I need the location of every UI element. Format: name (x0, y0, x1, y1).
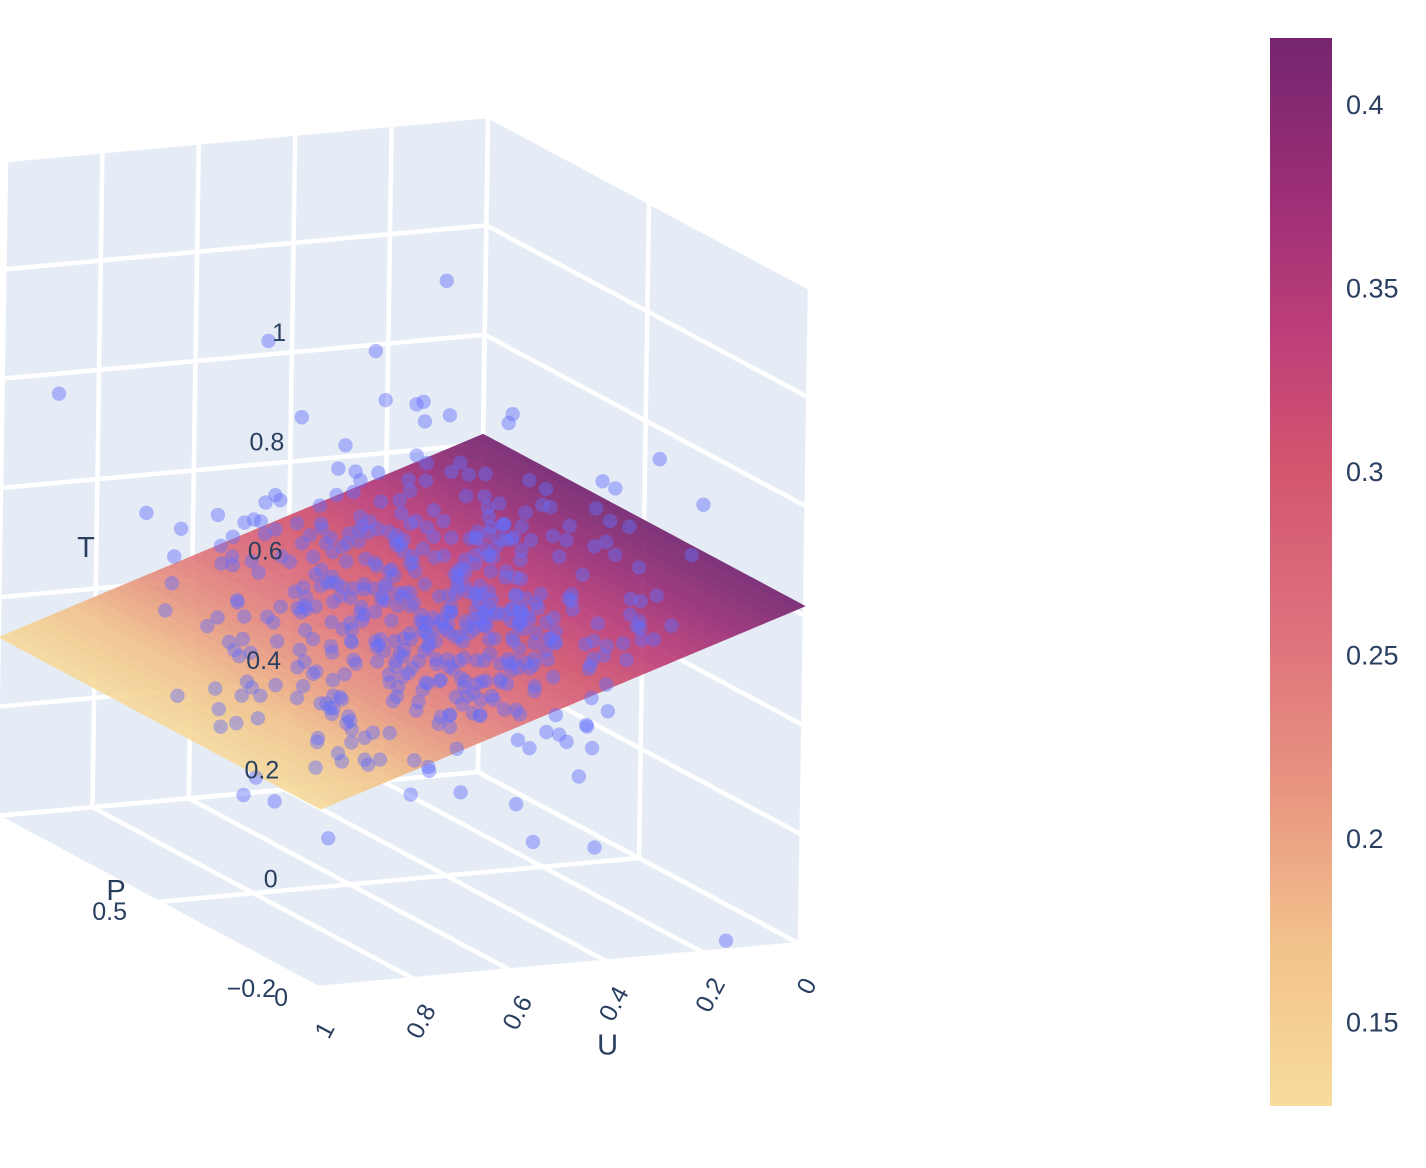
scatter-point-outlier (267, 794, 281, 808)
scatter-point (462, 467, 476, 481)
scatter-point (293, 643, 307, 657)
scatter-point (333, 690, 347, 704)
scatter-point (326, 595, 340, 609)
scatter-point (308, 760, 322, 774)
scatter-point (575, 568, 589, 582)
scatter-point (436, 514, 450, 528)
scatter-point (608, 481, 622, 495)
scatter-point (344, 735, 358, 749)
scatter-point (487, 631, 501, 645)
scatter-point (479, 674, 493, 688)
z-tick-label-4: 0.2 (245, 756, 280, 784)
scatter-point (236, 632, 250, 646)
scatter-point (468, 589, 482, 603)
scatter-point (434, 673, 448, 687)
scatter-point (251, 565, 265, 579)
scatter-point (417, 577, 431, 591)
scatter-point (174, 522, 188, 536)
scatter-point (339, 554, 353, 568)
scatter-point (587, 634, 601, 648)
scatter-point (589, 501, 603, 515)
scatter-point (505, 407, 519, 421)
scatter-point (165, 576, 179, 590)
scatter-point (323, 701, 337, 715)
scatter-point (591, 616, 605, 630)
z-tick-label-3: 0.4 (246, 647, 281, 675)
scatter-point (647, 632, 661, 646)
scatter-point (653, 452, 667, 466)
scatter-point (495, 518, 509, 532)
scatter-point (335, 754, 349, 768)
scatter-point (420, 520, 434, 534)
y-tick-label-2: 0 (274, 984, 288, 1012)
scatter-point (167, 549, 181, 563)
scatter-point (499, 533, 513, 547)
scatter-point (407, 595, 421, 609)
x-axis-title: U (597, 1030, 618, 1062)
z-tick-label-1: 0.8 (250, 428, 285, 456)
scatter-point (306, 632, 320, 646)
x-tick-label-4: 0.2 (690, 973, 731, 1017)
plot-figure: 10.80.60.40.20−0.210.5010.80.60.40.20 TP… (0, 0, 1426, 1168)
scatter-point (231, 595, 245, 609)
scatter-point (585, 741, 599, 755)
scatter-point (225, 549, 239, 563)
scatter-point (603, 514, 617, 528)
scatter-point-outlier (719, 933, 733, 947)
colorbar-tick-label-3: 0.25 (1346, 641, 1399, 671)
scatter-point (407, 753, 421, 767)
x-tick-label-1: 0.8 (401, 1000, 442, 1044)
scatter-point (526, 835, 540, 849)
scatter-point (310, 735, 324, 749)
z-tick-label-6: −0.2 (227, 975, 276, 1003)
scatter-point (273, 599, 287, 613)
scatter-point (222, 635, 236, 649)
scatter-point (684, 548, 698, 562)
scatter-point (361, 758, 375, 772)
scatter-point (453, 785, 467, 799)
scatter-point (158, 603, 172, 617)
scatter-point (506, 634, 520, 648)
z-tick-label-0: 1 (272, 319, 286, 347)
scatter-point (516, 622, 530, 636)
scatter-point (384, 614, 398, 628)
scatter-point (437, 548, 451, 562)
scatter3d-plot[interactable]: 10.80.60.40.20−0.210.5010.80.60.40.20 TP… (0, 0, 1426, 1168)
scatter-point (319, 536, 333, 550)
scatter-point (497, 702, 511, 716)
scatter-point (466, 706, 480, 720)
scatter-point (632, 560, 646, 574)
scatter-point (419, 456, 433, 470)
scatter-point (232, 649, 246, 663)
scatter-point (564, 594, 578, 608)
scatter-point (306, 550, 320, 564)
scatter-point (421, 760, 435, 774)
scatter-point-outlier (52, 386, 66, 400)
scatter-point (299, 602, 313, 616)
scatter-point (443, 720, 457, 734)
scatter-point (339, 716, 353, 730)
x-tick-label-0: 1 (309, 1018, 340, 1043)
scatter-point (411, 654, 425, 668)
scatter-point (313, 498, 327, 512)
scatter-point (529, 625, 543, 639)
z-tick-label-5: 0 (264, 866, 278, 894)
scatter-point (409, 397, 423, 411)
scatter-point (374, 494, 388, 508)
scatter-point (370, 559, 384, 573)
scatter-point (290, 660, 304, 674)
colorbar[interactable]: 0.40.350.30.250.20.15 (1270, 38, 1399, 1106)
scatter-point (597, 648, 611, 662)
scatter-point (518, 505, 532, 519)
scatter-point (371, 466, 385, 480)
scatter-point (491, 605, 505, 619)
scatter-point (418, 675, 432, 689)
scatter-point (344, 634, 358, 648)
scatter-point (290, 516, 304, 530)
scatter-point (595, 474, 609, 488)
scatter-point (476, 541, 490, 555)
scatter-point (403, 787, 417, 801)
scatter-point (458, 614, 472, 628)
scatter-point (213, 719, 227, 733)
scatter-point (622, 520, 636, 534)
scatter-point (337, 667, 351, 681)
scatter-point (348, 464, 362, 478)
scatter-point (634, 594, 648, 608)
scatter-point (369, 344, 383, 358)
scatter-point (416, 542, 430, 556)
scatter-point (361, 525, 375, 539)
scatter-point (258, 495, 272, 509)
scatter-point (200, 619, 214, 633)
scatter-point (393, 493, 407, 507)
scatter-point (324, 615, 338, 629)
scatter-point (696, 498, 710, 512)
scatter-point (368, 605, 382, 619)
scatter-point (373, 632, 387, 646)
scatter-point (314, 516, 328, 530)
scatter-point (584, 691, 598, 705)
scatter-point (546, 529, 560, 543)
scatter-point (493, 672, 507, 686)
scatter-point (483, 647, 497, 661)
scatter-point (411, 695, 425, 709)
scatter-point (273, 493, 287, 507)
colorbar-tick-labels: 0.40.350.30.250.20.15 (1346, 90, 1399, 1038)
scatter-point (509, 797, 523, 811)
scatter-point (583, 658, 597, 672)
scatter-point (211, 508, 225, 522)
x-tick-label-3: 0.4 (594, 982, 635, 1026)
scatter-point (346, 485, 360, 499)
scatter-point (633, 621, 647, 635)
colorbar-tick-label-1: 0.35 (1346, 274, 1399, 304)
scatter-point (511, 733, 525, 747)
scatter-point (308, 567, 322, 581)
colorbar-gradient (1270, 38, 1332, 1106)
scatter-point (608, 548, 622, 562)
x-tick-label-2: 0.6 (497, 991, 538, 1035)
scatter-point (559, 533, 573, 547)
colorbar-tick-label-2: 0.3 (1346, 457, 1384, 487)
scatter-point (515, 543, 529, 557)
scatter-point (331, 461, 345, 475)
scatter-point (559, 735, 573, 749)
scatter-point (535, 498, 549, 512)
scatter-point (325, 645, 339, 659)
scatter-point (572, 769, 586, 783)
scatter-point (251, 711, 265, 725)
x-tick-label-5: 0 (791, 974, 822, 999)
scatter-point (401, 473, 415, 487)
scatter-point (229, 716, 243, 730)
scatter-point (309, 664, 323, 678)
scatter-point (664, 618, 678, 632)
scatter-point (587, 840, 601, 854)
scatter-point (428, 634, 442, 648)
scatter-point (469, 556, 483, 570)
scatter-point (475, 618, 489, 632)
scatter-point (444, 465, 458, 479)
scatter-point (539, 725, 553, 739)
scatter-point (601, 704, 615, 718)
scatter-point (514, 572, 528, 586)
scatter-point (599, 677, 613, 691)
scatter-point (444, 530, 458, 544)
scatter-point (650, 588, 664, 602)
scatter-point (379, 576, 393, 590)
scatter-point (324, 575, 338, 589)
scatter-point (549, 708, 563, 722)
scatter-point (522, 473, 536, 487)
scatter-point (338, 438, 352, 452)
scatter-point (443, 408, 457, 422)
scatter-point (212, 702, 226, 716)
scatter-point (599, 535, 613, 549)
scatter-point (268, 678, 282, 692)
scatter-point (342, 526, 356, 540)
scatter-point (295, 410, 309, 424)
scatter-point (396, 544, 410, 558)
scatter-point (208, 681, 222, 695)
scatter-point (295, 536, 309, 550)
scatter-point (396, 670, 410, 684)
scatter-point (329, 488, 343, 502)
scatter-point (580, 719, 594, 733)
scatter-point (388, 654, 402, 668)
scatter-point (539, 643, 553, 657)
scatter-point (477, 489, 491, 503)
scatter-point (507, 655, 521, 669)
scatter-point (403, 516, 417, 530)
scatter-point (513, 604, 527, 618)
scatter-point (448, 630, 462, 644)
scatter-point (450, 742, 464, 756)
scatter-point (366, 726, 380, 740)
scatter-point (619, 653, 633, 667)
scatter-point (357, 582, 371, 596)
scatter-point (527, 679, 541, 693)
colorbar-tick-label-5: 0.15 (1346, 1008, 1399, 1038)
scatter-point (419, 473, 433, 487)
scatter-point (379, 594, 393, 608)
scatter-point (382, 726, 396, 740)
scatter-point (346, 653, 360, 667)
scatter-point (562, 519, 576, 533)
y-axis-title: P (106, 875, 125, 907)
colorbar-tick-label-4: 0.2 (1346, 824, 1384, 854)
scatter-point (463, 531, 477, 545)
colorbar-tick-label-0: 0.4 (1346, 90, 1384, 120)
scatter-point (266, 615, 280, 629)
scatter-point (552, 549, 566, 563)
scatter-point (546, 670, 560, 684)
scatter-point (214, 539, 228, 553)
scatter-point (454, 671, 468, 685)
scatter-point (459, 489, 473, 503)
scatter-point (237, 609, 251, 623)
z-tick-label-2: 0.6 (248, 538, 283, 566)
scatter-point (482, 585, 496, 599)
scatter-point (418, 414, 432, 428)
scatter-point (616, 636, 630, 650)
scatter-point (519, 591, 533, 605)
scatter-point (427, 503, 441, 517)
scatter-point (386, 694, 400, 708)
scatter-point (522, 741, 536, 755)
scatter-point (170, 689, 184, 703)
scatter-point (403, 626, 417, 640)
scatter-point (382, 667, 396, 681)
scatter-point (484, 564, 498, 578)
scatter-point (442, 659, 456, 673)
scatter-point (290, 691, 304, 705)
scatter-point (226, 530, 240, 544)
scatter-point (539, 482, 553, 496)
z-axis-title: T (77, 532, 95, 564)
scatter-point (499, 564, 513, 578)
scatter-point (444, 605, 458, 619)
scatter-point (353, 510, 367, 524)
scatter-point (451, 563, 465, 577)
scatter-point (432, 589, 446, 603)
scatter-point (236, 788, 250, 802)
scatter-point (515, 519, 529, 533)
scatter-point (247, 512, 261, 526)
scatter-point (492, 496, 506, 510)
scatter-point (353, 606, 367, 620)
scatter-point (429, 652, 443, 666)
scatter-point (245, 680, 259, 694)
scatter-point (378, 393, 392, 407)
scatter-point (478, 467, 492, 481)
scatter-point (343, 591, 357, 605)
scatter-point (139, 506, 153, 520)
scatter-point (321, 831, 335, 845)
scatter-point-outlier (440, 274, 454, 288)
